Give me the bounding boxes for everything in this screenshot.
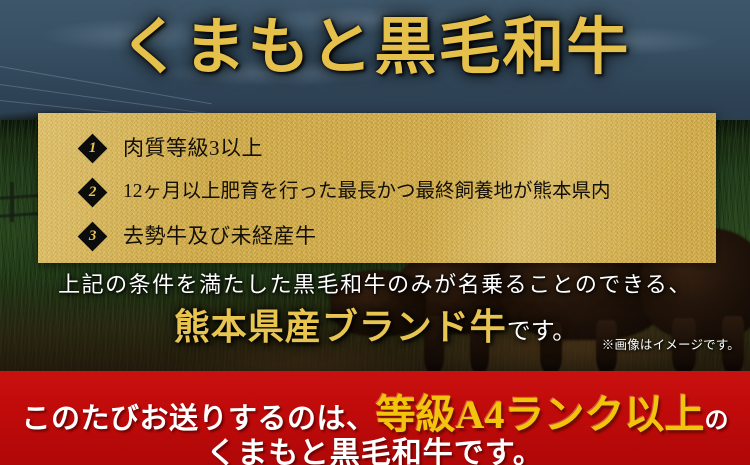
condition-item: 2 12ヶ月以上肥育を行った最長かつ最終飼養地が熊本県内 — [38, 170, 716, 214]
condition-number: 2 — [89, 185, 97, 200]
promotional-banner: くまもと黒毛和牛 1 肉質等級3以上 2 12ヶ月以上肥育を行った最長かつ最終飼… — [0, 0, 750, 465]
brand-highlight-text: 熊本県産ブランド牛 — [174, 307, 507, 347]
image-disclaimer: ※画像はイメージです。 — [602, 337, 740, 353]
fence-post — [10, 182, 14, 222]
condition-number: 1 — [89, 141, 97, 156]
diamond-bullet-icon: 2 — [78, 177, 108, 207]
condition-label: 肉質等級3以上 — [123, 136, 263, 160]
diamond-bullet-icon: 3 — [78, 221, 108, 251]
page-title: くまもと黒毛和牛 — [0, 14, 750, 82]
offer-banner-line-two: くまもと黒毛和牛です。 — [0, 428, 750, 465]
condition-item: 1 肉質等級3以上 — [38, 126, 716, 170]
brand-tail-text: です。 — [507, 319, 577, 345]
description-lead-text: 上記の条件を満たした黒毛和牛のみが名乗ることのできる、 — [0, 272, 750, 298]
condition-number: 3 — [89, 229, 97, 244]
condition-label: 12ヶ月以上肥育を行った最長かつ最終飼養地が熊本県内 — [123, 180, 611, 204]
conditions-panel: 1 肉質等級3以上 2 12ヶ月以上肥育を行った最長かつ最終飼養地が熊本県内 3… — [38, 113, 716, 263]
condition-item: 3 去勢牛及び未経産牛 — [38, 214, 716, 258]
diamond-bullet-icon: 1 — [78, 133, 108, 163]
condition-label: 去勢牛及び未経産牛 — [123, 224, 317, 248]
conditions-list: 1 肉質等級3以上 2 12ヶ月以上肥育を行った最長かつ最終飼養地が熊本県内 3… — [38, 113, 716, 263]
offer-banner: このたびお送りするのは、等級A4ランク以上の くまもと黒毛和牛です。 — [0, 371, 750, 465]
